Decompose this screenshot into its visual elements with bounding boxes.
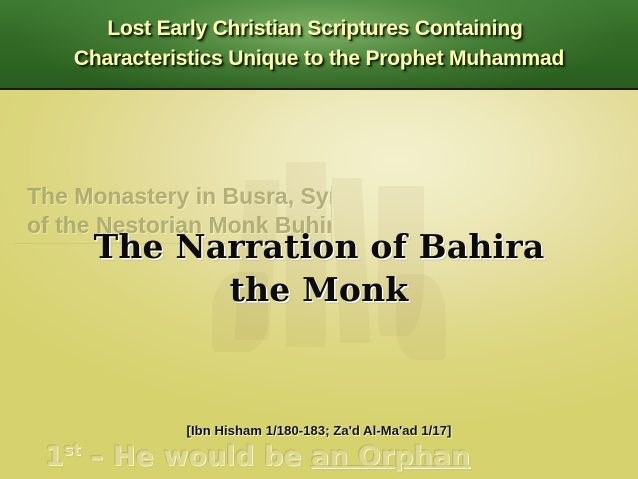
faded-bullet-1-emphasis: an Orphan [311, 441, 470, 472]
faded-bullet-1-ordinal-suffix: st [64, 440, 81, 459]
slide-header-banner: Lost Early Christian Scriptures Containi… [0, 0, 638, 90]
faded-bullet-1-ordinal: 1 [45, 441, 64, 472]
header-title-line-1: Lost Early Christian Scriptures Containi… [107, 14, 530, 44]
slide-body: The Monastery in Busra, Syria of the Nes… [0, 90, 638, 479]
faded-caption-line-1: The Monastery in Busra, Syria [14, 186, 331, 211]
faded-bullet-1: 1st – He would be an Orphan [45, 440, 470, 472]
page-title-line-2: the Monk [0, 268, 638, 311]
faded-bullet-1-text: – He would be [81, 441, 311, 472]
page-title-line-1: The Narration of Bahira [0, 225, 638, 268]
source-citation: [Ibn Hisham 1/180-183; Za'd Al-Ma'ad 1/1… [0, 423, 638, 438]
page-title: The Narration of Bahira the Monk [0, 225, 638, 311]
header-title-line-2: Characteristics Unique to the Prophet Mu… [74, 44, 564, 74]
slide: Lost Early Christian Scriptures Containi… [0, 0, 638, 479]
